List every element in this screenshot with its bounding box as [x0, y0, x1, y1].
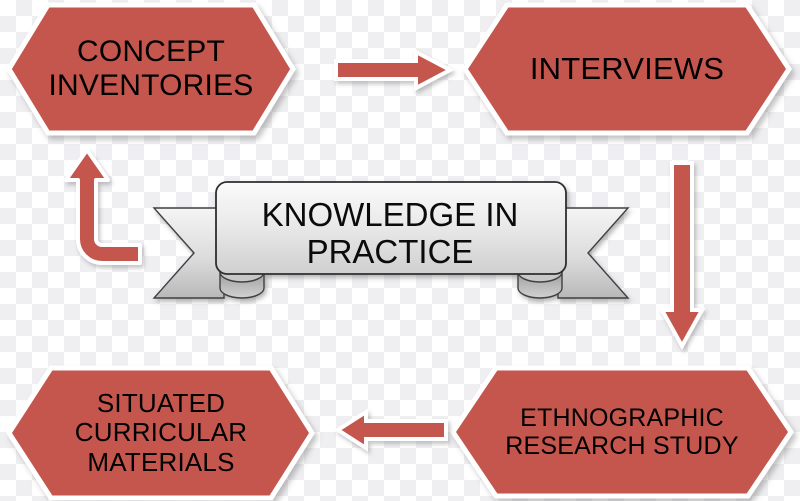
hexagon-shape — [465, 5, 789, 133]
arrow-situated-to-concept-inventories — [58, 145, 152, 271]
arrow-interviews-to-ethnographic — [655, 158, 711, 354]
arrow-concept-inventories-to-interviews — [330, 48, 456, 92]
ribbon-panel — [216, 182, 566, 274]
node-situated-curricular-materials[interactable]: SITUATED CURRICULAR MATERIALS — [6, 365, 316, 501]
hexagon-shape — [9, 368, 312, 498]
arrow-left-shape — [338, 412, 446, 448]
hexagon-shape — [453, 368, 791, 496]
hexagon-shape — [9, 5, 293, 133]
arrow-bent-up-shape — [66, 150, 140, 263]
ribbon-left-tail — [154, 208, 224, 298]
ribbon-knowledge-in-practice[interactable]: KNOWLEDGE IN PRACTICE — [152, 176, 630, 308]
arrow-ethnographic-to-situated — [332, 408, 452, 452]
ribbon-right-tail — [558, 208, 628, 298]
diagram-canvas: CONCEPT INVENTORIES INTERVIEWS ETHNOGRAP… — [0, 0, 800, 501]
arrow-right-shape — [336, 52, 450, 88]
node-concept-inventories[interactable]: CONCEPT INVENTORIES — [6, 2, 296, 136]
node-interviews[interactable]: INTERVIEWS — [462, 2, 792, 136]
node-ethnographic-research-study[interactable]: ETHNOGRAPHIC RESEARCH STUDY — [450, 365, 794, 499]
arrow-down-shape — [662, 163, 702, 346]
